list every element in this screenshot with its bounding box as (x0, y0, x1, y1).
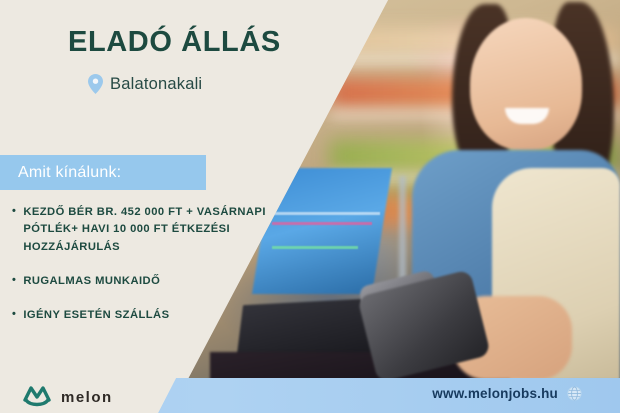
monitor-screen-line (272, 212, 380, 215)
website-link[interactable]: www.melonjobs.hu (432, 386, 582, 401)
brand-logo[interactable]: melon (22, 383, 113, 412)
bullet-icon: • (12, 273, 16, 290)
list-item: • RUGALMAS MUNKAIDŐ (12, 273, 277, 290)
list-item: • IGÉNY ESETÉN SZÁLLÁS (12, 307, 277, 324)
benefits-list: • KEZDŐ BÉR BR. 452 000 FT + VASÁRNAPI P… (12, 204, 277, 342)
offer-banner-label: Amit kínálunk: (0, 164, 121, 182)
bullet-icon: • (12, 307, 16, 324)
bullet-icon: • (12, 204, 16, 256)
monitor-screen-line (272, 246, 358, 249)
brand-name: melon (61, 389, 113, 406)
list-item: • KEZDŐ BÉR BR. 452 000 FT + VASÁRNAPI P… (12, 204, 277, 256)
benefit-text: RUGALMAS MUNKAIDŐ (23, 273, 160, 290)
map-pin-icon (88, 74, 103, 94)
globe-icon (567, 386, 582, 401)
website-url: www.melonjobs.hu (432, 386, 558, 401)
monitor-screen-line (272, 222, 372, 225)
cashier-face (470, 18, 582, 150)
location-label: Balatonakali (110, 75, 202, 94)
offer-banner: Amit kínálunk: (0, 155, 206, 190)
benefit-text: KEZDŐ BÉR BR. 452 000 FT + VASÁRNAPI PÓT… (23, 204, 277, 256)
melon-logo-icon (22, 383, 52, 412)
location-row: Balatonakali (88, 74, 202, 94)
job-ad-poster: ELADÓ ÁLLÁS Balatonakali Amit kínálunk: … (0, 0, 620, 413)
benefit-text: IGÉNY ESETÉN SZÁLLÁS (23, 307, 169, 324)
page-title: ELADÓ ÁLLÁS (68, 26, 281, 59)
